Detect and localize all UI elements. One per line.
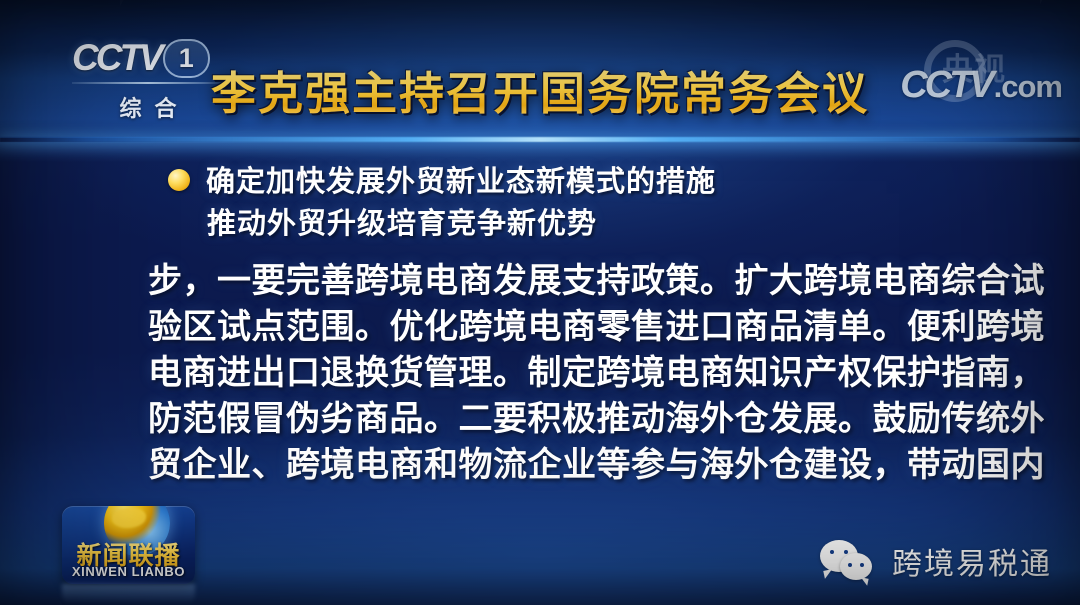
program-name-en: XINWEN LIANBO <box>62 564 195 579</box>
body-text-line: 贸企业、跨境电商和物流企业等参与海外仓建设，带动国内 <box>148 442 948 488</box>
broadcast-screen: CCTV 1 综合 央视 CCTV .com 李克强主持召开国务院常务会议 确定… <box>0 0 1080 605</box>
wechat-bubble-small <box>840 553 872 580</box>
body-text-line: 防范假冒伪劣商品。二要积极推动海外仓发展。鼓励传统外 <box>148 396 948 442</box>
subheadline-row: 确定加快发展外贸新业态新模式的措施 推动外贸升级培育竞争新优势 <box>168 160 968 244</box>
body-text-line: 验区试点范围。优化跨境电商零售进口商品清单。便利跨境 <box>148 304 948 350</box>
wechat-icon <box>820 540 878 582</box>
body-text-block: 步，一要完善跨境电商发展支持政策。扩大跨境电商综合试 验区试点范围。优化跨境电商… <box>148 258 948 488</box>
headline-divider-glow <box>0 142 1080 162</box>
gold-bullet-point-icon <box>168 169 190 191</box>
xinwen-lianbo-logo: 新闻联播 XINWEN LIANBO <box>62 506 195 584</box>
wechat-dot <box>860 563 864 567</box>
body-text-line: 步，一要完善跨境电商发展支持政策。扩大跨境电商综合试 <box>148 258 948 304</box>
page-title: 李克强主持召开国务院常务会议 <box>0 66 1080 122</box>
subheadline-lines: 确定加快发展外贸新业态新模式的措施 推动外贸升级培育竞争新优势 <box>206 160 968 244</box>
wechat-dot <box>848 563 852 567</box>
wechat-account-name: 跨境易税通 <box>892 539 1052 583</box>
wechat-dot <box>844 550 848 554</box>
subheadline-line: 推动外贸升级培育竞争新优势 <box>206 202 968 244</box>
subheadline-line: 确定加快发展外贸新业态新模式的措施 <box>206 160 968 202</box>
body-text-line: 电商进出口退换货管理。制定跨境电商知识产权保护指南， <box>148 350 948 396</box>
xinwen-lianbo-logo-reflection <box>62 584 195 604</box>
subheadline-block: 确定加快发展外贸新业态新模式的措施 推动外贸升级培育竞争新优势 <box>168 160 968 244</box>
wechat-dot <box>830 550 834 554</box>
wechat-brand-watermark: 跨境易税通 <box>820 539 1052 583</box>
